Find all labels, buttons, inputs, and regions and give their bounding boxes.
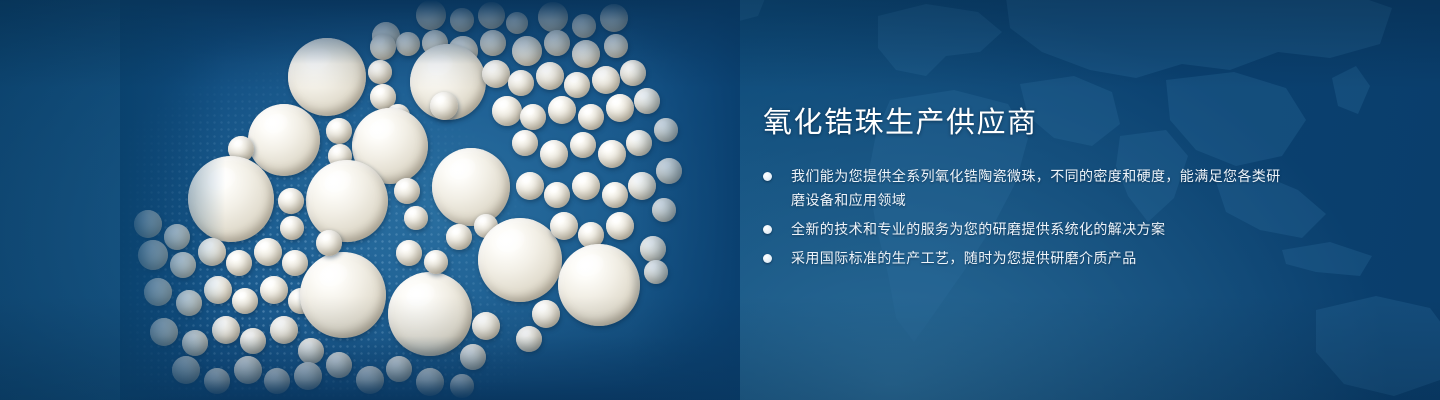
- banner-content: 氧化锆珠生产供应商 我们能为您提供全系列氧化锆陶瓷微珠，不同的密度和硬度，能满足…: [763, 104, 1283, 275]
- list-item-text: 我们能为您提供全系列氧化锆陶瓷微珠，不同的密度和硬度，能满足您各类研磨设备和应用…: [791, 168, 1281, 208]
- list-item-text: 全新的技术和专业的服务为您的研磨提供系统化的解决方案: [791, 221, 1165, 237]
- filled-circle-icon: [763, 172, 772, 181]
- page-title: 氧化锆珠生产供应商: [763, 104, 1283, 142]
- filled-circle-icon: [763, 225, 772, 234]
- list-item: 全新的技术和专业的服务为您的研磨提供系统化的解决方案: [763, 217, 1283, 241]
- list-item-text: 采用国际标准的生产工艺，随时为您提供研磨介质产品: [791, 250, 1137, 266]
- list-item: 采用国际标准的生产工艺，随时为您提供研磨介质产品: [763, 246, 1283, 270]
- filled-circle-icon: [763, 254, 772, 263]
- list-item: 我们能为您提供全系列氧化锆陶瓷微珠，不同的密度和硬度，能满足您各类研磨设备和应用…: [763, 164, 1283, 212]
- hero-banner: 氧化锆珠生产供应商 我们能为您提供全系列氧化锆陶瓷微珠，不同的密度和硬度，能满足…: [0, 0, 1440, 400]
- feature-list: 我们能为您提供全系列氧化锆陶瓷微珠，不同的密度和硬度，能满足您各类研磨设备和应用…: [763, 164, 1283, 270]
